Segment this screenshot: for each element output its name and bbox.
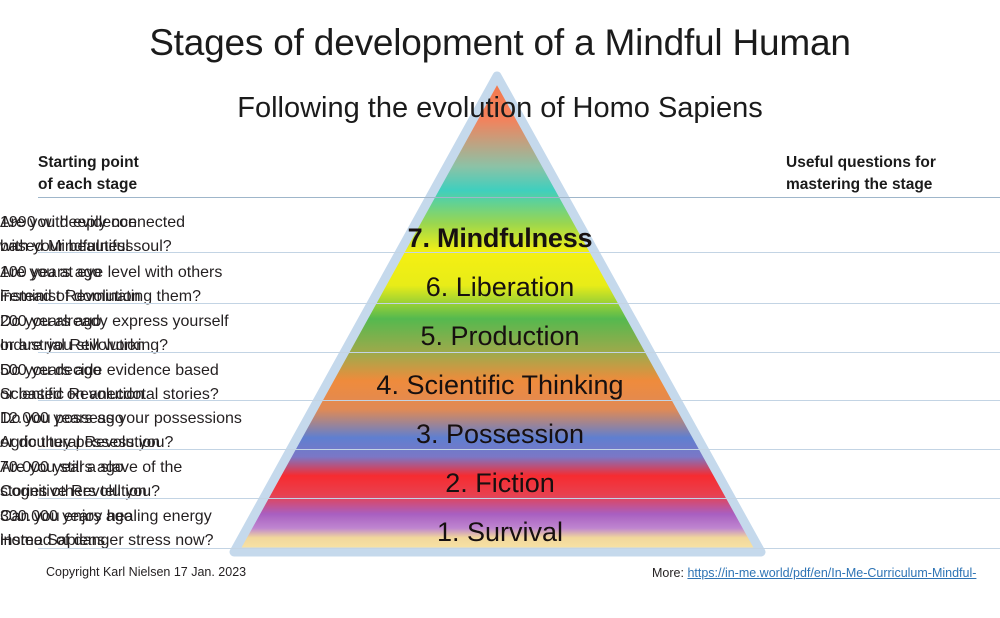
more-label: More: (652, 566, 684, 580)
pyramid-stage-5: 5. Production (0, 321, 1000, 352)
row-divider-2 (38, 303, 1000, 304)
more-url-link[interactable]: https://in-me.world/pdf/en/In-Me-Curricu… (687, 566, 976, 580)
slide-canvas: Stages of development of a Mindful Human… (0, 0, 1000, 618)
page-title: Stages of development of a Mindful Human (0, 21, 1000, 65)
pyramid-stage-4: 4. Scientific Thinking (0, 370, 1000, 401)
left-column-header-line1: Starting point (38, 152, 139, 174)
pyramid-stage-6: 6. Liberation (0, 272, 1000, 303)
more-link-container: More: https://in-me.world/pdf/en/In-Me-C… (652, 565, 976, 582)
right-column-header: Useful questions for mastering the stage (786, 152, 936, 195)
left-column-header: Starting point of each stage (38, 152, 139, 195)
row-divider-3 (38, 352, 1000, 353)
row-divider-7 (38, 548, 1000, 549)
header-divider (38, 197, 1000, 198)
pyramid-stage-1: 1. Survival (0, 517, 1000, 548)
copyright-text: Copyright Karl Nielsen 17 Jan. 2023 (46, 564, 246, 581)
right-column-header-line2: mastering the stage (786, 174, 936, 196)
left-column-header-line2: of each stage (38, 174, 139, 196)
right-column-header-line1: Useful questions for (786, 152, 936, 174)
page-subtitle: Following the evolution of Homo Sapiens (0, 90, 1000, 126)
pyramid-stage-3: 3. Possession (0, 419, 1000, 450)
pyramid-stage-7: 7. Mindfulness (0, 223, 1000, 254)
pyramid-stage-2: 2. Fiction (0, 468, 1000, 499)
